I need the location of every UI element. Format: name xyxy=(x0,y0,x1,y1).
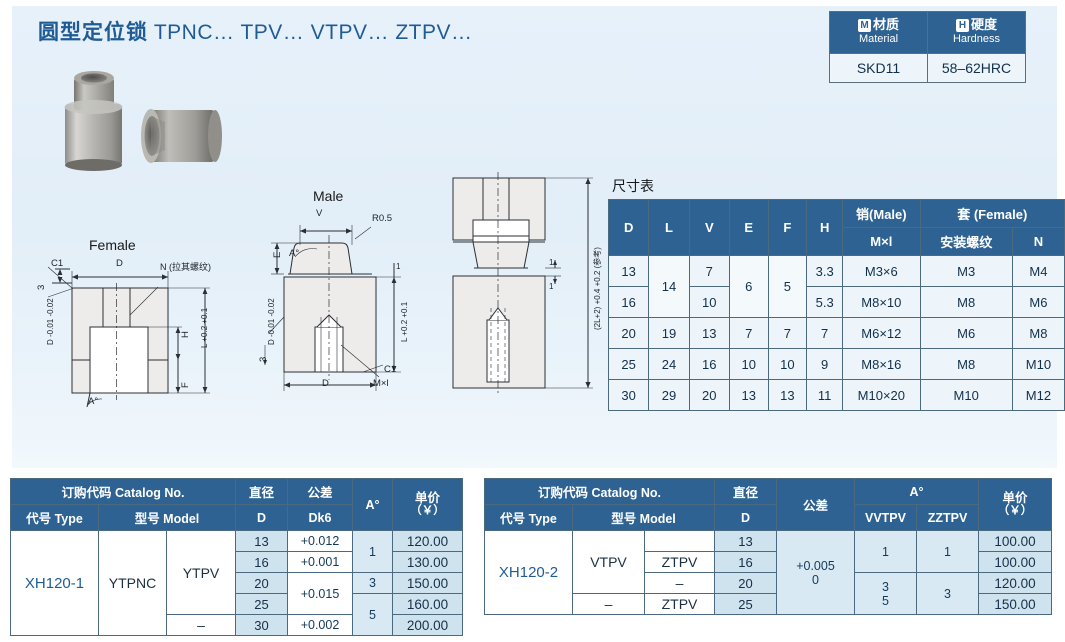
hardness-header-cn: 硬度 xyxy=(971,17,997,32)
left-header-diameter-cn: 直径 xyxy=(236,479,288,505)
dim-cell-D: 30 xyxy=(609,380,649,411)
right-cell-angle-v3: 3 5 xyxy=(855,573,917,615)
male-label-d-tol: D -0.01 -0.02 xyxy=(267,298,276,345)
order-table-left[interactable]: 订购代码 Catalog No. 直径 公差 A° 单价 （￥） 代号 Type… xyxy=(10,478,463,636)
dim-cell-mxl: M8×16 xyxy=(843,349,920,380)
right-cell-type: XH120-2 xyxy=(485,531,573,615)
right-header-diameter-sym: D xyxy=(715,505,777,531)
male-label-angle: A° xyxy=(289,248,299,259)
dim-header-D: D xyxy=(609,200,649,256)
right-cell-D: 25 xyxy=(715,594,777,615)
right-cell-model-a-dash: – xyxy=(573,594,645,615)
table-row: 20 19 13 7 7 7 M6×12 M6 M8 xyxy=(609,318,1065,349)
dim-cell-mxl: M8×10 xyxy=(843,287,920,318)
left-cell-model-b: YTPV xyxy=(167,531,236,615)
female-label-f: F xyxy=(180,382,191,388)
table-row[interactable]: XH120-2 VTPV 13 +0.005 0 1 1 100.00 xyxy=(485,531,1052,552)
page-title: 圆型定位锁 TPNC… TPV… VTPV… ZTPV… xyxy=(38,16,473,46)
dim-header-E: E xyxy=(729,200,768,256)
left-header-model: 型号 Model xyxy=(99,505,236,531)
male-label-1: 1 xyxy=(396,262,400,271)
m-badge-icon: M xyxy=(858,19,871,32)
left-cell-angle-1: 1 xyxy=(353,531,393,573)
dim-cell-V: 10 xyxy=(689,287,729,318)
male-label-mxl: M×l xyxy=(373,378,389,389)
dim-header-male-group: 销(Male) xyxy=(843,200,920,228)
right-cell-angle-v1: 1 xyxy=(855,531,917,573)
left-cell-D: 25 xyxy=(236,594,288,615)
left-header-catalog: 订购代码 Catalog No. xyxy=(11,479,236,505)
right-cell-angle-z1: 1 xyxy=(917,531,979,573)
left-header-price-unit: （￥） xyxy=(397,505,458,518)
female-label-d: D xyxy=(116,258,123,269)
left-header-tolerance-sym: Dk6 xyxy=(288,505,353,531)
left-cell-tolerance-1a: +0.012 xyxy=(288,531,353,552)
right-cell-model-b: ZTPV xyxy=(645,552,715,573)
female-label-d-tol: D -0.01 -0.02 xyxy=(46,298,55,345)
dim-cell-H: 7 xyxy=(807,318,843,349)
left-cell-D: 13 xyxy=(236,531,288,552)
dim-cell-E: 6 xyxy=(729,256,768,318)
left-cell-model-b-dash: – xyxy=(167,615,236,636)
right-header-catalog: 订购代码 Catalog No. xyxy=(485,479,715,505)
hardness-value: 58–62HRC xyxy=(928,54,1026,83)
page-title-cn: 圆型定位锁 xyxy=(38,21,148,44)
product-photo xyxy=(52,52,232,192)
right-header-tolerance-cn: 公差 xyxy=(777,479,855,531)
material-header: M材质 Material xyxy=(830,12,928,54)
assembly-label-gap-bottom: 1 xyxy=(549,282,553,291)
female-bushing-photo xyxy=(141,109,222,163)
dim-cell-V: 7 xyxy=(689,256,729,287)
dim-cell-thread: M8 xyxy=(920,349,1012,380)
dim-cell-mxl: M6×12 xyxy=(843,318,920,349)
dim-cell-L: 24 xyxy=(649,349,689,380)
dim-cell-mxl: M10×20 xyxy=(843,380,920,411)
dim-header-N: N xyxy=(1012,228,1064,256)
dim-cell-L: 29 xyxy=(649,380,689,411)
male-drawing-title: Male xyxy=(313,188,343,204)
assembly-drawing xyxy=(443,168,603,400)
male-label-3: 3 xyxy=(258,357,269,362)
dim-cell-V: 20 xyxy=(689,380,729,411)
left-header-tolerance-cn: 公差 xyxy=(288,479,353,505)
male-pin-photo xyxy=(65,71,123,171)
dimension-table: D L V E F H 销(Male) 套 (Female) M×l 安装螺纹 … xyxy=(608,199,1065,411)
dim-cell-thread: M10 xyxy=(920,380,1012,411)
left-cell-tolerance-2b: +0.002 xyxy=(288,615,353,636)
hardness-header: H硬度 Hardness xyxy=(928,12,1026,54)
table-row: 13 14 7 6 5 3.3 M3×6 M3 M4 xyxy=(609,256,1065,287)
material-value: SKD11 xyxy=(830,54,928,83)
right-cell-tolerance-b: 0 xyxy=(781,573,850,587)
dim-cell-H: 11 xyxy=(807,380,843,411)
material-header-cn: 材质 xyxy=(873,17,899,32)
dim-cell-E: 7 xyxy=(729,318,768,349)
right-cell-D: 16 xyxy=(715,552,777,573)
left-cell-price: 150.00 xyxy=(393,573,463,594)
dim-header-thread: 安装螺纹 xyxy=(920,228,1012,256)
dim-header-L: L xyxy=(649,200,689,256)
table-row: 25 24 16 10 10 9 M8×16 M8 M10 xyxy=(609,349,1065,380)
right-cell-model-b-dash: – xyxy=(645,573,715,594)
h-badge-icon: H xyxy=(956,19,969,32)
right-header-price-cn: 单价 xyxy=(983,491,1047,505)
right-cell-price: 150.00 xyxy=(979,594,1052,615)
dim-cell-mxl: M3×6 xyxy=(843,256,920,287)
dim-cell-V: 13 xyxy=(689,318,729,349)
female-label-l: L +0.2 +0.1 xyxy=(200,308,209,348)
right-cell-angle-v3a: 3 xyxy=(859,580,912,594)
female-label-h: H xyxy=(180,331,191,338)
male-label-d: D xyxy=(322,378,329,389)
dim-cell-N: M6 xyxy=(1012,287,1064,318)
dim-cell-F: 5 xyxy=(768,256,807,318)
right-header-angle: A° xyxy=(855,479,979,505)
table-row: 30 29 20 13 13 11 M10×20 M10 M12 xyxy=(609,380,1065,411)
dim-cell-D: 13 xyxy=(609,256,649,287)
dim-cell-L: 14 xyxy=(649,256,689,318)
right-header-model: 型号 Model xyxy=(573,505,715,531)
right-cell-tolerance-a: +0.005 xyxy=(781,559,850,573)
dim-cell-N: M12 xyxy=(1012,380,1064,411)
dim-cell-N: M10 xyxy=(1012,349,1064,380)
page-title-en: TPNC… TPV… VTPV… ZTPV… xyxy=(154,21,473,44)
left-header-type: 代号 Type xyxy=(11,505,99,531)
table-row[interactable]: XH120-1 YTPNC YTPV 13 +0.012 1 120.00 xyxy=(11,531,463,552)
female-label-n: N (拉其螺纹) xyxy=(160,260,211,273)
dim-cell-thread: M3 xyxy=(920,256,1012,287)
hardness-header-en: Hardness xyxy=(940,33,1013,47)
left-header-price-cn: 单价 xyxy=(397,491,458,505)
dim-cell-H: 5.3 xyxy=(807,287,843,318)
female-label-angle: A° xyxy=(88,396,98,407)
dim-cell-H: 9 xyxy=(807,349,843,380)
dim-cell-D: 25 xyxy=(609,349,649,380)
right-cell-angle-v3b: 5 xyxy=(859,594,912,608)
right-cell-D: 13 xyxy=(715,531,777,552)
left-cell-D: 16 xyxy=(236,552,288,573)
female-label-c1: C1 xyxy=(51,258,63,269)
right-header-type: 代号 Type xyxy=(485,505,573,531)
dim-header-female-group: 套 (Female) xyxy=(920,200,1064,228)
male-drawing xyxy=(255,205,430,395)
dim-cell-thread: M6 xyxy=(920,318,1012,349)
female-label-3: 3 xyxy=(36,285,47,290)
assembly-label-gap-top: 1 xyxy=(549,258,553,267)
left-header-diameter-sym: D xyxy=(236,505,288,531)
female-drawing-title: Female xyxy=(89,237,136,253)
dim-cell-E: 13 xyxy=(729,380,768,411)
catalog-page: 圆型定位锁 TPNC… TPV… VTPV… ZTPV… M材质 Materia… xyxy=(0,0,1065,642)
dim-cell-F: 10 xyxy=(768,349,807,380)
right-header-diameter-cn: 直径 xyxy=(715,479,777,505)
order-table-right[interactable]: 订购代码 Catalog No. 直径 公差 A° 单价 （￥） 代号 Type… xyxy=(484,478,1052,615)
left-header-angle: A° xyxy=(353,479,393,531)
male-label-l: L +0.2 +0.1 xyxy=(400,302,409,342)
right-cell-tolerance: +0.005 0 xyxy=(777,531,855,615)
assembly-label-2l2: (2L+2) +0.4 +0.2 (参考) xyxy=(592,247,603,330)
right-cell-price: 120.00 xyxy=(979,573,1052,594)
right-header-price-unit: （￥） xyxy=(983,505,1047,518)
right-header-price: 单价 （￥） xyxy=(979,479,1052,531)
material-hardness-table: M材质 Material H硬度 Hardness SKD11 58–62HRC xyxy=(829,11,1026,83)
right-cell-price: 100.00 xyxy=(979,531,1052,552)
male-label-r05: R0.5 xyxy=(372,213,392,224)
dim-header-F: F xyxy=(768,200,807,256)
left-header-price: 单价 （￥） xyxy=(393,479,463,531)
material-header-en: Material xyxy=(842,33,915,47)
left-cell-angle-3: 3 xyxy=(353,573,393,594)
right-cell-model-b2: ZTPV xyxy=(645,594,715,615)
left-cell-D: 20 xyxy=(236,573,288,594)
dim-header-H: H xyxy=(807,200,843,256)
left-cell-D: 30 xyxy=(236,615,288,636)
dim-cell-N: M4 xyxy=(1012,256,1064,287)
left-cell-type: XH120-1 xyxy=(11,531,99,636)
dim-cell-L: 19 xyxy=(649,318,689,349)
left-cell-tolerance-1b: +0.001 xyxy=(288,552,353,573)
right-cell-model-b-blank xyxy=(645,531,715,552)
right-cell-angle-z3: 3 xyxy=(917,573,979,615)
male-label-v: V xyxy=(316,208,322,219)
male-label-e: E xyxy=(272,252,283,258)
right-cell-price: 100.00 xyxy=(979,552,1052,573)
dim-header-V: V xyxy=(689,200,729,256)
dim-cell-D: 20 xyxy=(609,318,649,349)
right-cell-D: 20 xyxy=(715,573,777,594)
dim-cell-F: 13 xyxy=(768,380,807,411)
dim-cell-E: 10 xyxy=(729,349,768,380)
dimension-table-caption: 尺寸表 xyxy=(612,176,654,196)
female-drawing xyxy=(30,255,245,415)
dim-header-mxl: M×l xyxy=(843,228,920,256)
dim-cell-thread: M8 xyxy=(920,287,1012,318)
left-cell-price: 200.00 xyxy=(393,615,463,636)
dim-cell-N: M8 xyxy=(1012,318,1064,349)
left-cell-tolerance-2a: +0.015 xyxy=(288,573,353,615)
dim-cell-D: 16 xyxy=(609,287,649,318)
right-cell-model-a: VTPV xyxy=(573,531,645,594)
left-cell-price: 160.00 xyxy=(393,594,463,615)
left-cell-angle-5: 5 xyxy=(353,594,393,636)
left-cell-price: 120.00 xyxy=(393,531,463,552)
left-cell-price: 130.00 xyxy=(393,552,463,573)
right-header-angle-zztpv: ZZTPV xyxy=(917,505,979,531)
male-label-c1: C1 xyxy=(384,364,396,375)
left-cell-model-a: YTPNC xyxy=(99,531,167,636)
right-header-angle-vvtpv: VVTPV xyxy=(855,505,917,531)
dim-cell-F: 7 xyxy=(768,318,807,349)
dim-cell-V: 16 xyxy=(689,349,729,380)
dim-cell-H: 3.3 xyxy=(807,256,843,287)
